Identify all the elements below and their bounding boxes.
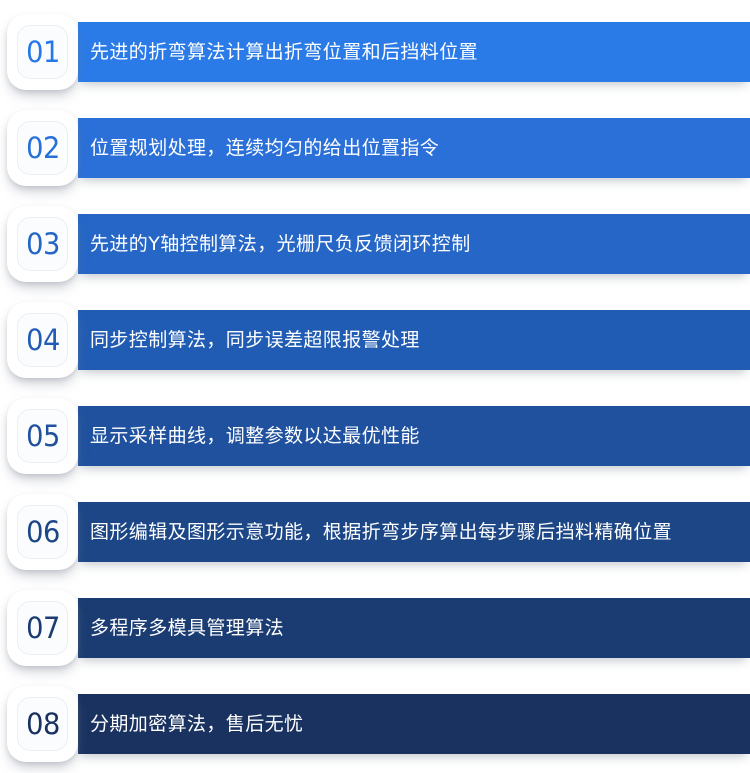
step-number: 07 — [26, 611, 60, 645]
feature-list: 先进的折弯算法计算出折弯位置和后挡料位置01位置规划处理，连续均匀的给出位置指令… — [0, 0, 750, 773]
step-number-badge: 02 — [7, 110, 78, 186]
feature-bar: 先进的折弯算法计算出折弯位置和后挡料位置 — [78, 22, 750, 82]
feature-text: 图形编辑及图形示意功能，根据折弯步序算出每步骤后挡料精确位置 — [90, 521, 672, 544]
step-number-badge: 06 — [7, 494, 78, 570]
step-number-badge-inner: 08 — [17, 697, 68, 751]
feature-row[interactable]: 位置规划处理，连续均匀的给出位置指令02 — [0, 96, 750, 192]
feature-text: 位置规划处理，连续均匀的给出位置指令 — [90, 137, 439, 160]
step-number: 06 — [26, 515, 60, 549]
feature-text: 先进的折弯算法计算出折弯位置和后挡料位置 — [90, 41, 478, 64]
feature-row[interactable]: 先进的折弯算法计算出折弯位置和后挡料位置01 — [0, 0, 750, 96]
feature-text: 分期加密算法，售后无忧 — [90, 713, 303, 736]
step-number-badge-inner: 02 — [17, 121, 68, 175]
feature-bar: 同步控制算法，同步误差超限报警处理 — [78, 310, 750, 370]
step-number-badge: 08 — [7, 686, 78, 762]
feature-row[interactable]: 多程序多模具管理算法07 — [0, 576, 750, 672]
feature-text: 同步控制算法，同步误差超限报警处理 — [90, 329, 420, 352]
feature-bar: 分期加密算法，售后无忧 — [78, 694, 750, 754]
step-number: 05 — [26, 419, 60, 453]
step-number-badge-inner: 05 — [17, 409, 68, 463]
step-number-badge: 01 — [7, 14, 78, 90]
feature-row[interactable]: 分期加密算法，售后无忧08 — [0, 672, 750, 768]
step-number: 03 — [26, 227, 60, 261]
feature-text: 多程序多模具管理算法 — [90, 617, 284, 640]
step-number: 02 — [26, 131, 60, 165]
step-number-badge: 07 — [7, 590, 78, 666]
step-number-badge-inner: 03 — [17, 217, 68, 271]
feature-bar: 先进的Y轴控制算法，光栅尺负反馈闭环控制 — [78, 214, 750, 274]
step-number: 01 — [26, 35, 60, 69]
feature-bar: 图形编辑及图形示意功能，根据折弯步序算出每步骤后挡料精确位置 — [78, 502, 750, 562]
step-number-badge: 04 — [7, 302, 78, 378]
feature-text: 显示采样曲线，调整参数以达最优性能 — [90, 425, 420, 448]
feature-bar: 位置规划处理，连续均匀的给出位置指令 — [78, 118, 750, 178]
step-number-badge-inner: 04 — [17, 313, 68, 367]
step-number-badge-inner: 06 — [17, 505, 68, 559]
step-number-badge-inner: 07 — [17, 601, 68, 655]
feature-bar: 显示采样曲线，调整参数以达最优性能 — [78, 406, 750, 466]
step-number-badge: 03 — [7, 206, 78, 282]
step-number-badge: 05 — [7, 398, 78, 474]
feature-row[interactable]: 图形编辑及图形示意功能，根据折弯步序算出每步骤后挡料精确位置06 — [0, 480, 750, 576]
step-number: 08 — [26, 707, 60, 741]
feature-row[interactable]: 同步控制算法，同步误差超限报警处理04 — [0, 288, 750, 384]
feature-bar: 多程序多模具管理算法 — [78, 598, 750, 658]
step-number-badge-inner: 01 — [17, 25, 68, 79]
feature-text: 先进的Y轴控制算法，光栅尺负反馈闭环控制 — [90, 233, 471, 256]
step-number: 04 — [26, 323, 60, 357]
feature-row[interactable]: 先进的Y轴控制算法，光栅尺负反馈闭环控制03 — [0, 192, 750, 288]
feature-row[interactable]: 显示采样曲线，调整参数以达最优性能05 — [0, 384, 750, 480]
